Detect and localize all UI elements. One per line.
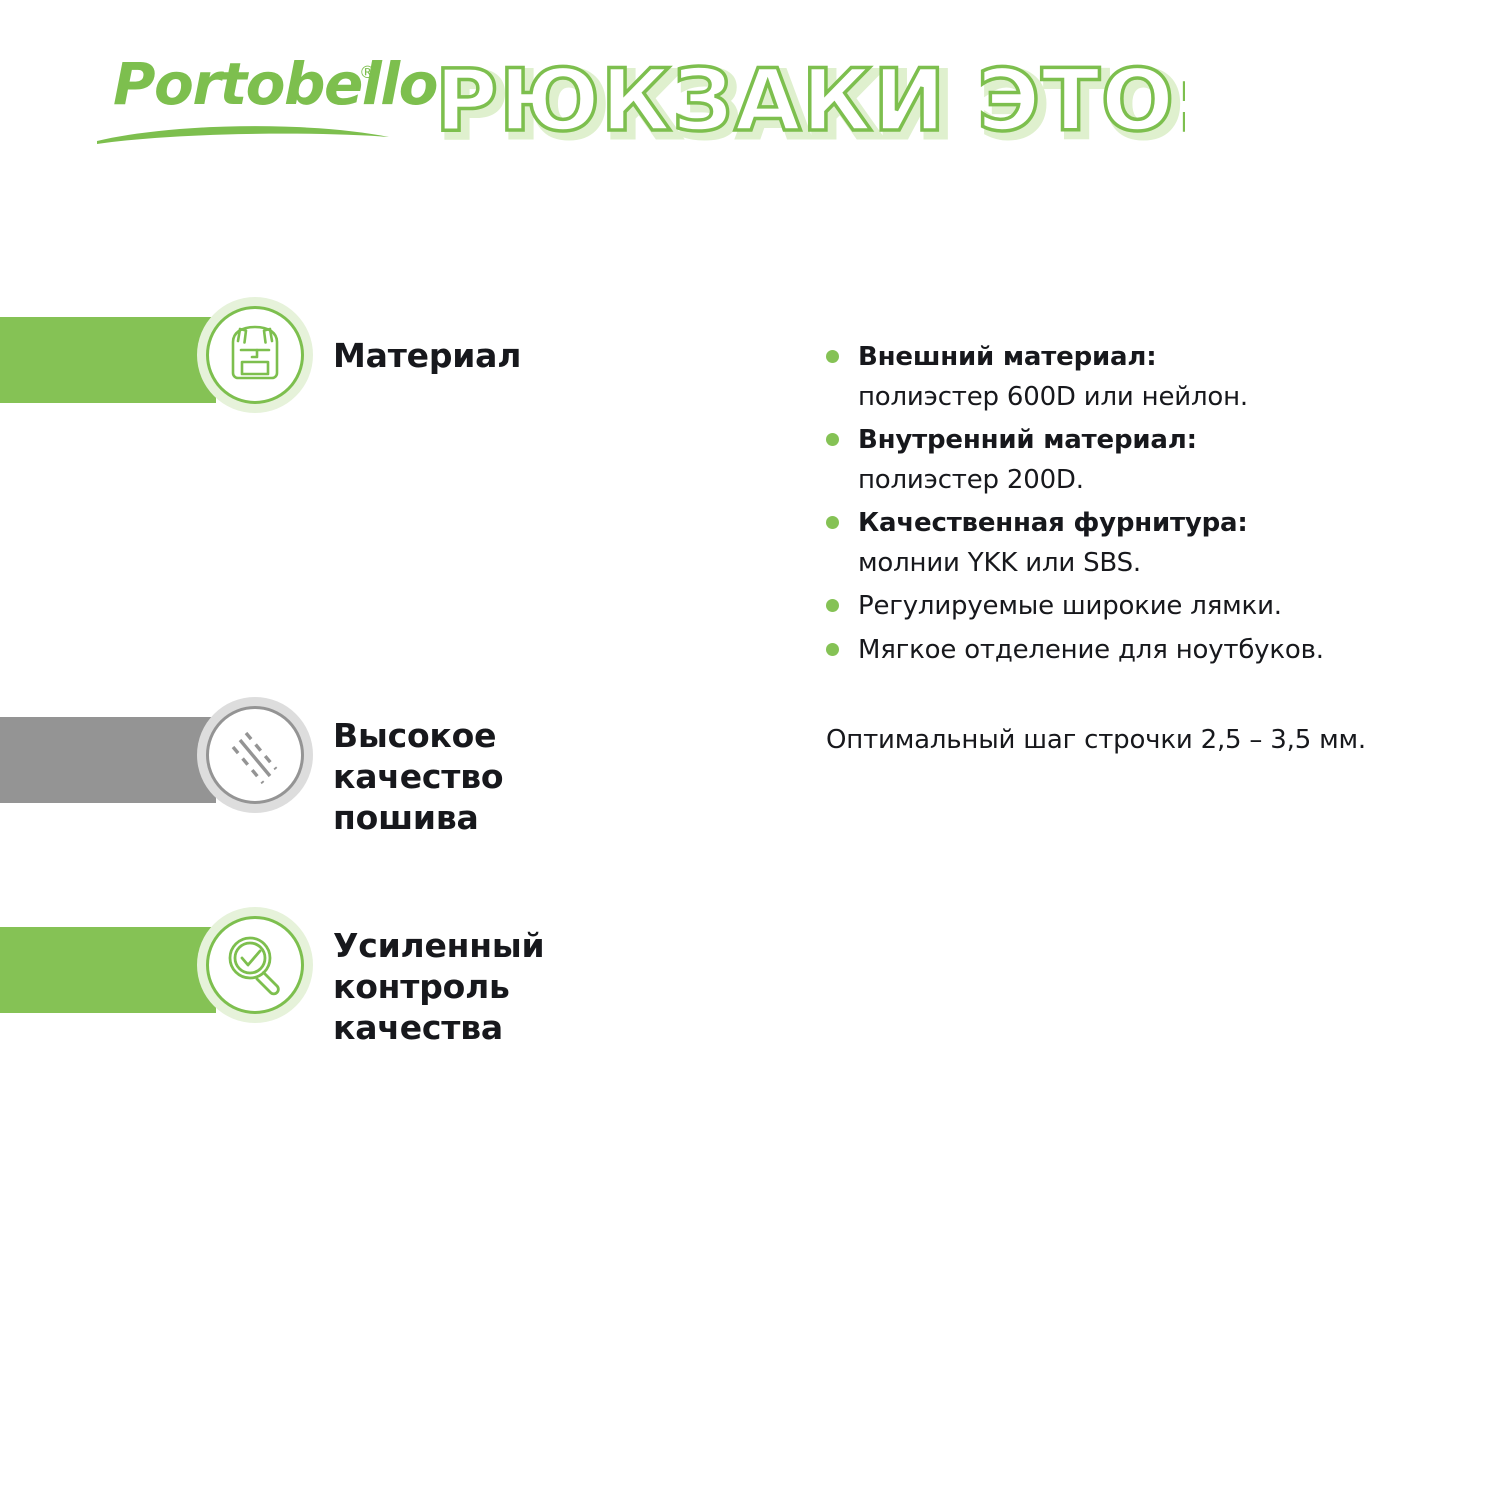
- bullet-value: Мягкое отделение для ноутбуков.: [858, 630, 1426, 671]
- bullet-dot-icon: [826, 643, 839, 656]
- bullet-dot-icon: [826, 433, 839, 446]
- page-title: РЮКЗАКИ ЭТО: РЮКЗАКИ ЭТО:: [425, 48, 1185, 158]
- header: Portobello ® РЮКЗАКИ ЭТО: РЮКЗАКИ ЭТО:: [0, 0, 1500, 200]
- bullet-label: Внутренний материал:: [858, 420, 1426, 460]
- icon-circle-material: [206, 306, 304, 404]
- registered-trademark-icon: ®: [359, 63, 376, 83]
- page-title-outline-text: РЮКЗАКИ ЭТО: РЮКЗАКИ ЭТО:: [425, 48, 1185, 158]
- bullet-item: Мягкое отделение для ноутбуков.: [826, 630, 1426, 671]
- bullet-label: Качественная фурнитура:: [858, 503, 1426, 543]
- magnifier-check-icon: [209, 919, 301, 1011]
- section-title-stitch: Высокое качество пошива: [333, 715, 503, 838]
- icon-circle-stitch: [206, 706, 304, 804]
- stitch-note: Оптимальный шаг строчки 2,5 – 3,5 мм.: [826, 722, 1366, 758]
- bullet-dot-icon: [826, 599, 839, 612]
- backpack-icon: [209, 309, 301, 401]
- portobello-logo: Portobello ®: [113, 55, 403, 150]
- section-accent-bar-stitch: [0, 717, 216, 803]
- logo-swoosh-icon: [93, 117, 393, 145]
- bullet-item: Регулируемые широкие лямки.: [826, 586, 1426, 627]
- material-bullet-list: Внешний материал:полиэстер 600D или нейл…: [826, 337, 1426, 674]
- section-title-material: Материал: [333, 335, 521, 376]
- stitching-icon: [209, 709, 301, 801]
- bullet-value: полиэстер 200D.: [858, 460, 1426, 500]
- section-accent-bar-control: [0, 927, 216, 1013]
- section-title-control: Усиленный контроль качества: [333, 925, 544, 1048]
- bullet-value: Регулируемые широкие лямки.: [858, 586, 1426, 627]
- bullet-item: Внешний материал:полиэстер 600D или нейл…: [826, 337, 1426, 417]
- logo-wordmark: Portobello: [113, 55, 437, 113]
- bullet-label: Внешний материал:: [858, 337, 1426, 377]
- bullet-dot-icon: [826, 350, 839, 363]
- icon-circle-control: [206, 916, 304, 1014]
- section-accent-bar-material: [0, 317, 216, 403]
- svg-text:РЮКЗАКИ ЭТО:: РЮКЗАКИ ЭТО:: [435, 51, 1185, 151]
- poster-root: Portobello ® РЮКЗАКИ ЭТО: РЮКЗАКИ ЭТО:: [0, 0, 1500, 1500]
- bullet-dot-icon: [826, 516, 839, 529]
- bullet-value: полиэстер 600D или нейлон.: [858, 377, 1426, 417]
- bullet-item: Качественная фурнитура:молнии YKK или SB…: [826, 503, 1426, 583]
- bullet-item: Внутренний материал:полиэстер 200D.: [826, 420, 1426, 500]
- bullet-value: молнии YKK или SBS.: [858, 543, 1426, 583]
